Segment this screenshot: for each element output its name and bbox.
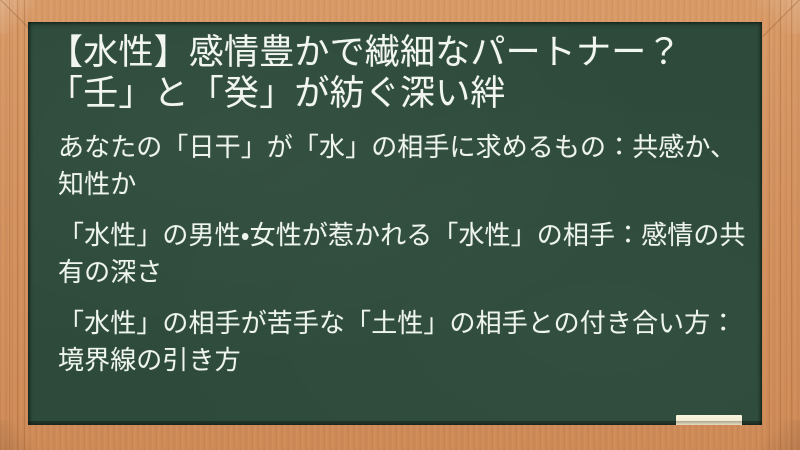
wood-grain-line	[791, 0, 792, 450]
wood-grain-line	[9, 0, 10, 450]
chalkboard-frame: 【水性】感情豊かで繊細なパートナー？「壬」と「癸」が紡ぐ深い絆 あなたの「日干」…	[0, 0, 800, 450]
list-item[interactable]: あなたの「日干」が「水」の相手に求めるもの：共感か、知性か	[48, 129, 748, 203]
wood-grain-line	[17, 0, 18, 450]
wood-grain-line	[24, 0, 25, 450]
list-item[interactable]: 「水性」の相手が苦手な「土性」の相手との付き合い方：境界線の引き方	[48, 305, 748, 379]
frame-corner-bottom-right	[758, 420, 800, 450]
page-title: 【水性】感情豊かで繊細なパートナー？「壬」と「癸」が紡ぐ深い絆	[48, 32, 748, 114]
chalk-ledge	[28, 421, 762, 425]
wood-grain-line	[769, 0, 770, 450]
topic-list: あなたの「日干」が「水」の相手に求めるもの：共感か、知性か 「水性」の男性・女性…	[48, 129, 748, 379]
chalkboard-content: 【水性】感情豊かで繊細なパートナー？「壬」と「癸」が紡ぐ深い絆 あなたの「日干」…	[28, 22, 762, 425]
wood-grain-line	[780, 0, 781, 450]
list-item[interactable]: 「水性」の男性・女性が惹かれる「水性」の相手：感情の共有の深さ	[48, 217, 748, 291]
chalkboard-surface: 【水性】感情豊かで繊細なパートナー？「壬」と「癸」が紡ぐ深い絆 あなたの「日干」…	[28, 22, 762, 425]
